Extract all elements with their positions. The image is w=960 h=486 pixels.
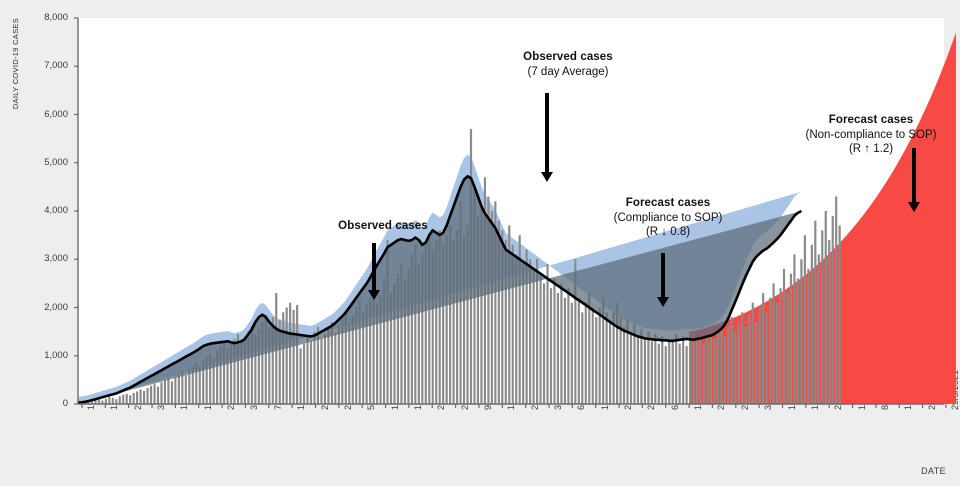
- bar: [689, 339, 691, 404]
- bar: [153, 384, 155, 404]
- bar: [793, 254, 795, 404]
- bar: [293, 310, 295, 404]
- bar: [313, 332, 315, 404]
- annotation-line-1: Forecast cases: [588, 196, 748, 211]
- bar: [665, 346, 667, 404]
- bar: [748, 315, 750, 404]
- bar: [334, 333, 336, 404]
- bar: [585, 303, 587, 404]
- bar: [734, 332, 736, 404]
- bar: [779, 288, 781, 404]
- annotation-observed-cases-7day: Observed cases (7 day Average): [478, 50, 658, 79]
- bar: [289, 303, 291, 404]
- bar: [571, 303, 573, 404]
- bar: [320, 339, 322, 404]
- bar: [658, 344, 660, 404]
- bar: [693, 332, 695, 404]
- bar: [752, 303, 754, 404]
- bar: [282, 312, 284, 404]
- bar: [588, 293, 590, 404]
- bar: [327, 329, 329, 404]
- bar: [731, 317, 733, 404]
- bar: [783, 269, 785, 404]
- annotation-line-2: (Compliance to SOP): [588, 211, 748, 226]
- bar: [706, 336, 708, 404]
- bar: [136, 391, 138, 404]
- bar: [122, 395, 124, 404]
- bar: [533, 269, 535, 404]
- annotation-forecast-noncompliance: Forecast cases (Non-compliance to SOP) (…: [782, 113, 960, 157]
- bar: [790, 274, 792, 404]
- annotation-line-1: Forecast cases: [782, 113, 960, 128]
- bar: [717, 332, 719, 404]
- bar: [651, 341, 653, 404]
- bar: [133, 393, 135, 404]
- bar: [644, 339, 646, 404]
- bar: [696, 341, 698, 404]
- bar: [835, 197, 837, 404]
- bar: [738, 322, 740, 404]
- bar: [550, 288, 552, 404]
- bar: [178, 374, 180, 404]
- bar: [185, 375, 187, 404]
- bar: [174, 377, 176, 404]
- bar: [654, 334, 656, 404]
- annotation-line-2: (Non-compliance to SOP): [782, 128, 960, 143]
- bar: [797, 279, 799, 404]
- annotation-observed-cases-left: Observed cases: [308, 219, 458, 234]
- bar: [647, 332, 649, 404]
- bar: [553, 279, 555, 404]
- bar: [804, 235, 806, 404]
- bar: [828, 240, 830, 404]
- bar: [776, 303, 778, 404]
- bar: [818, 254, 820, 404]
- annotation-line-3: (R ↓ 0.8): [588, 225, 748, 240]
- bar: [727, 327, 729, 404]
- bar: [108, 397, 110, 404]
- bar: [115, 399, 117, 404]
- annotation-line-3: (R ↑ 1.2): [782, 142, 960, 157]
- bar: [150, 386, 152, 404]
- annotation-line-2: (7 day Average): [478, 65, 658, 80]
- bar: [606, 312, 608, 404]
- bar: [296, 305, 298, 404]
- bar: [300, 349, 302, 404]
- bar: [821, 230, 823, 404]
- annotation-forecast-compliance: Forecast cases (Compliance to SOP) (R ↓ …: [588, 196, 748, 240]
- bar: [143, 391, 145, 404]
- bar: [160, 382, 162, 404]
- bar: [713, 339, 715, 404]
- bar: [710, 329, 712, 404]
- bar: [637, 336, 639, 404]
- bar: [129, 395, 131, 404]
- bar: [592, 308, 594, 405]
- bar: [682, 336, 684, 404]
- bar: [126, 394, 128, 404]
- bar: [814, 221, 816, 404]
- bar: [686, 346, 688, 404]
- bar: [762, 293, 764, 404]
- bar: [595, 317, 597, 404]
- bar: [560, 283, 562, 404]
- bar: [807, 269, 809, 404]
- bar: [105, 399, 107, 404]
- bar: [825, 211, 827, 404]
- bar: [119, 396, 121, 404]
- bar: [140, 390, 142, 404]
- bar: [303, 344, 305, 404]
- bar: [786, 293, 788, 404]
- bar: [171, 381, 173, 404]
- bar: [679, 344, 681, 404]
- bar: [759, 308, 761, 405]
- bar: [699, 334, 701, 404]
- bar: [167, 378, 169, 404]
- bar: [675, 334, 677, 404]
- bar: [157, 387, 159, 404]
- bar: [599, 308, 601, 405]
- annotation-line-1: Observed cases: [308, 219, 458, 234]
- bar: [348, 323, 350, 404]
- bar: [324, 334, 326, 404]
- bar: [720, 322, 722, 404]
- bar: [609, 322, 611, 404]
- bar: [773, 283, 775, 404]
- bar: [286, 308, 288, 405]
- bar: [543, 283, 545, 404]
- bar: [338, 326, 340, 404]
- bar: [146, 388, 148, 404]
- bar: [578, 298, 580, 404]
- bar: [832, 216, 834, 404]
- annotation-line-1: Observed cases: [478, 50, 658, 65]
- bar: [557, 293, 559, 404]
- bar: [199, 367, 201, 404]
- bar: [306, 336, 308, 404]
- bar: [800, 259, 802, 404]
- bar: [581, 312, 583, 404]
- bar: [630, 332, 632, 404]
- bar: [724, 336, 726, 404]
- bar: [539, 274, 541, 404]
- bar: [703, 344, 705, 404]
- bar: [668, 339, 670, 404]
- bar: [741, 312, 743, 404]
- bar: [839, 225, 841, 404]
- bar: [164, 380, 166, 404]
- bar: [672, 341, 674, 404]
- bar: [567, 288, 569, 404]
- bar: [546, 264, 548, 404]
- bar: [623, 327, 625, 404]
- bar: [661, 336, 663, 404]
- bar: [310, 341, 312, 404]
- bar: [640, 329, 642, 404]
- bar: [769, 298, 771, 404]
- bar: [564, 298, 566, 404]
- bar: [766, 312, 768, 404]
- bar: [112, 398, 114, 404]
- bar: [811, 245, 813, 404]
- bar: [745, 327, 747, 404]
- chart-canvas: DAILY COVID-19 CASES 01,0002,0003,0004,0…: [0, 0, 960, 486]
- bar: [755, 322, 757, 404]
